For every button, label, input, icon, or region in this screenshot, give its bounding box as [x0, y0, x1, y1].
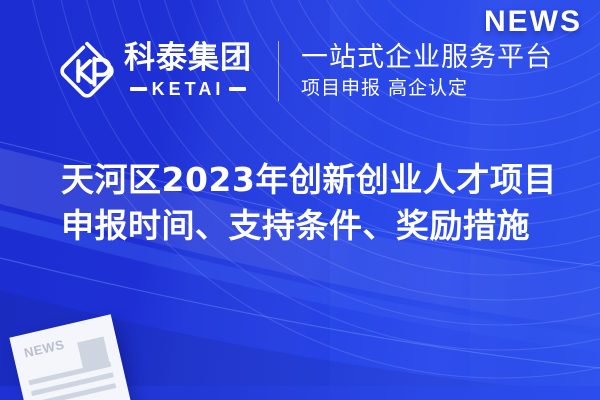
tagline-sub: 项目申报 高企认定 — [301, 78, 553, 99]
brand-lockup: 科泰集团 KETAI 一站式企业服务平台 项目申报 高企认定 — [56, 40, 553, 102]
brand-name-en-row: KETAI — [124, 79, 252, 100]
news-banner: NEWS 科泰集团 KETAI — [0, 0, 600, 400]
tagline-main: 一站式企业服务平台 — [301, 43, 553, 72]
page-title: 天河区2023年创新创业人才项目申报时间、支持条件、奖励措施 — [61, 157, 573, 249]
brand-name-en: KETAI — [152, 79, 225, 100]
brand-name-cn: 科泰集团 — [124, 43, 252, 74]
news-kicker: NEWS — [484, 5, 582, 39]
brand-wordmark: 科泰集团 KETAI — [124, 43, 252, 100]
dash-left-icon — [130, 87, 147, 91]
newspaper-card-lines — [28, 362, 120, 400]
ketai-kp-monogram-icon — [56, 40, 118, 102]
tagline-group: 一站式企业服务平台 项目申报 高企认定 — [301, 43, 553, 98]
dash-right-icon — [229, 87, 246, 91]
brand-divider — [278, 41, 279, 101]
